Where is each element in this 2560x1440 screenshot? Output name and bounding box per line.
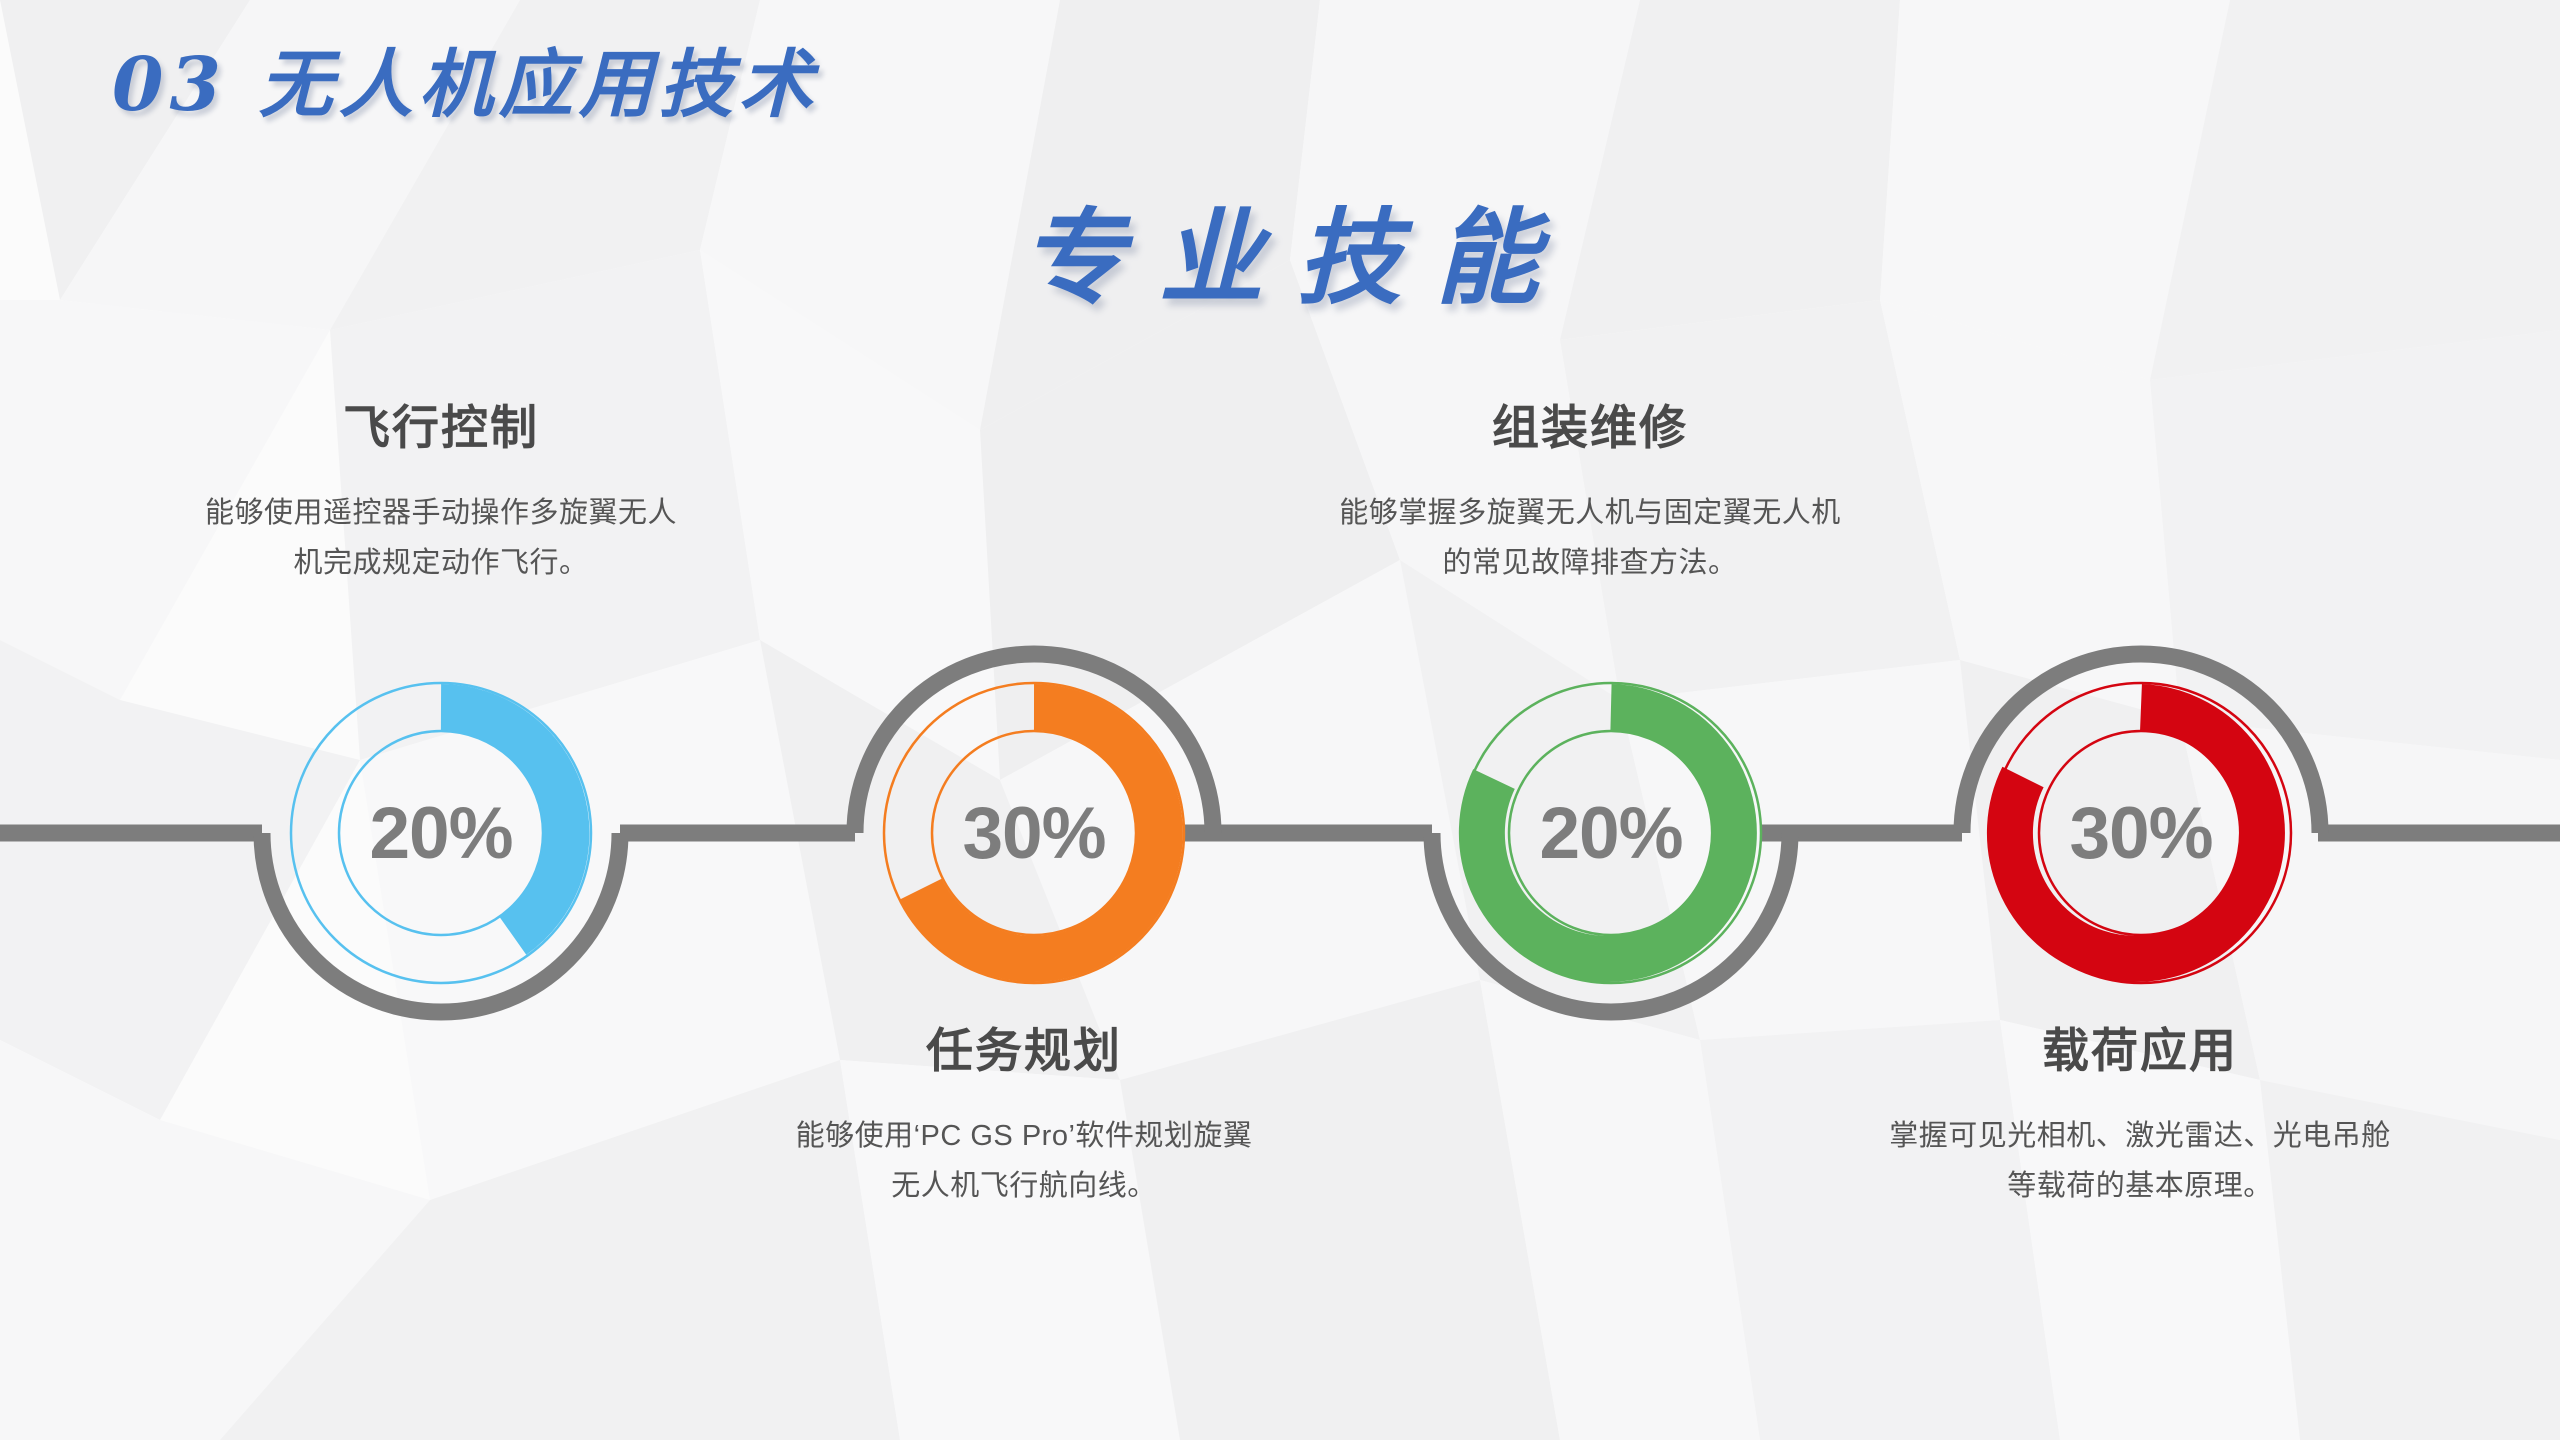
skill-title-flight-control: 飞行控制 — [131, 402, 751, 454]
skill-desc-line: 等载荷的基本原理。 — [1795, 1161, 2485, 1212]
skill-title-assembly-repair: 组装维修 — [1245, 402, 1935, 454]
skill-desc-assembly-repair: 能够掌握多旋翼无人机与固定翼无人机 的常见故障排查方法。 — [1245, 488, 1935, 590]
skill-block-assembly-repair: 组装维修 能够掌握多旋翼无人机与固定翼无人机 的常见故障排查方法。 — [1245, 402, 1935, 589]
skill-block-mission-planning: 任务规划 能够使用‘PC GS Pro’软件规划旋翼 无人机飞行航向线。 — [714, 1025, 1334, 1212]
skill-desc-line: 机完成规定动作飞行。 — [131, 538, 751, 589]
skill-block-payload-application: 载荷应用 掌握可见光相机、激光雷达、光电吊舱 等载荷的基本原理。 — [1795, 1025, 2485, 1212]
slide-canvas: 03 无人机应用技术 专业技能 — [0, 0, 2560, 1440]
skill-desc-mission-planning: 能够使用‘PC GS Pro’软件规划旋翼 无人机飞行航向线。 — [714, 1111, 1334, 1213]
skill-desc-line: 能够使用遥控器手动操作多旋翼无人 — [131, 488, 751, 539]
skill-desc-line: 无人机飞行航向线。 — [714, 1161, 1334, 1212]
skill-title-mission-planning: 任务规划 — [714, 1025, 1334, 1077]
skill-block-flight-control: 飞行控制 能够使用遥控器手动操作多旋翼无人 机完成规定动作飞行。 — [131, 402, 751, 589]
skill-desc-payload-application: 掌握可见光相机、激光雷达、光电吊舱 等载荷的基本原理。 — [1795, 1111, 2485, 1213]
skill-title-payload-application: 载荷应用 — [1795, 1025, 2485, 1077]
percent-label-mission-planning: 30% — [894, 797, 1174, 870]
skill-desc-line: 掌握可见光相机、激光雷达、光电吊舱 — [1795, 1111, 2485, 1162]
percent-label-flight-control: 20% — [301, 797, 581, 870]
percent-label-payload-application: 30% — [2001, 797, 2281, 870]
skill-desc-flight-control: 能够使用遥控器手动操作多旋翼无人 机完成规定动作飞行。 — [131, 488, 751, 590]
skill-desc-line: 的常见故障排查方法。 — [1245, 538, 1935, 589]
percent-label-assembly-repair: 20% — [1471, 797, 1751, 870]
skill-desc-line: 能够使用‘PC GS Pro’软件规划旋翼 — [714, 1111, 1334, 1162]
skill-desc-line: 能够掌握多旋翼无人机与固定翼无人机 — [1245, 488, 1935, 539]
timeline-rail-and-donuts — [0, 0, 2560, 1440]
